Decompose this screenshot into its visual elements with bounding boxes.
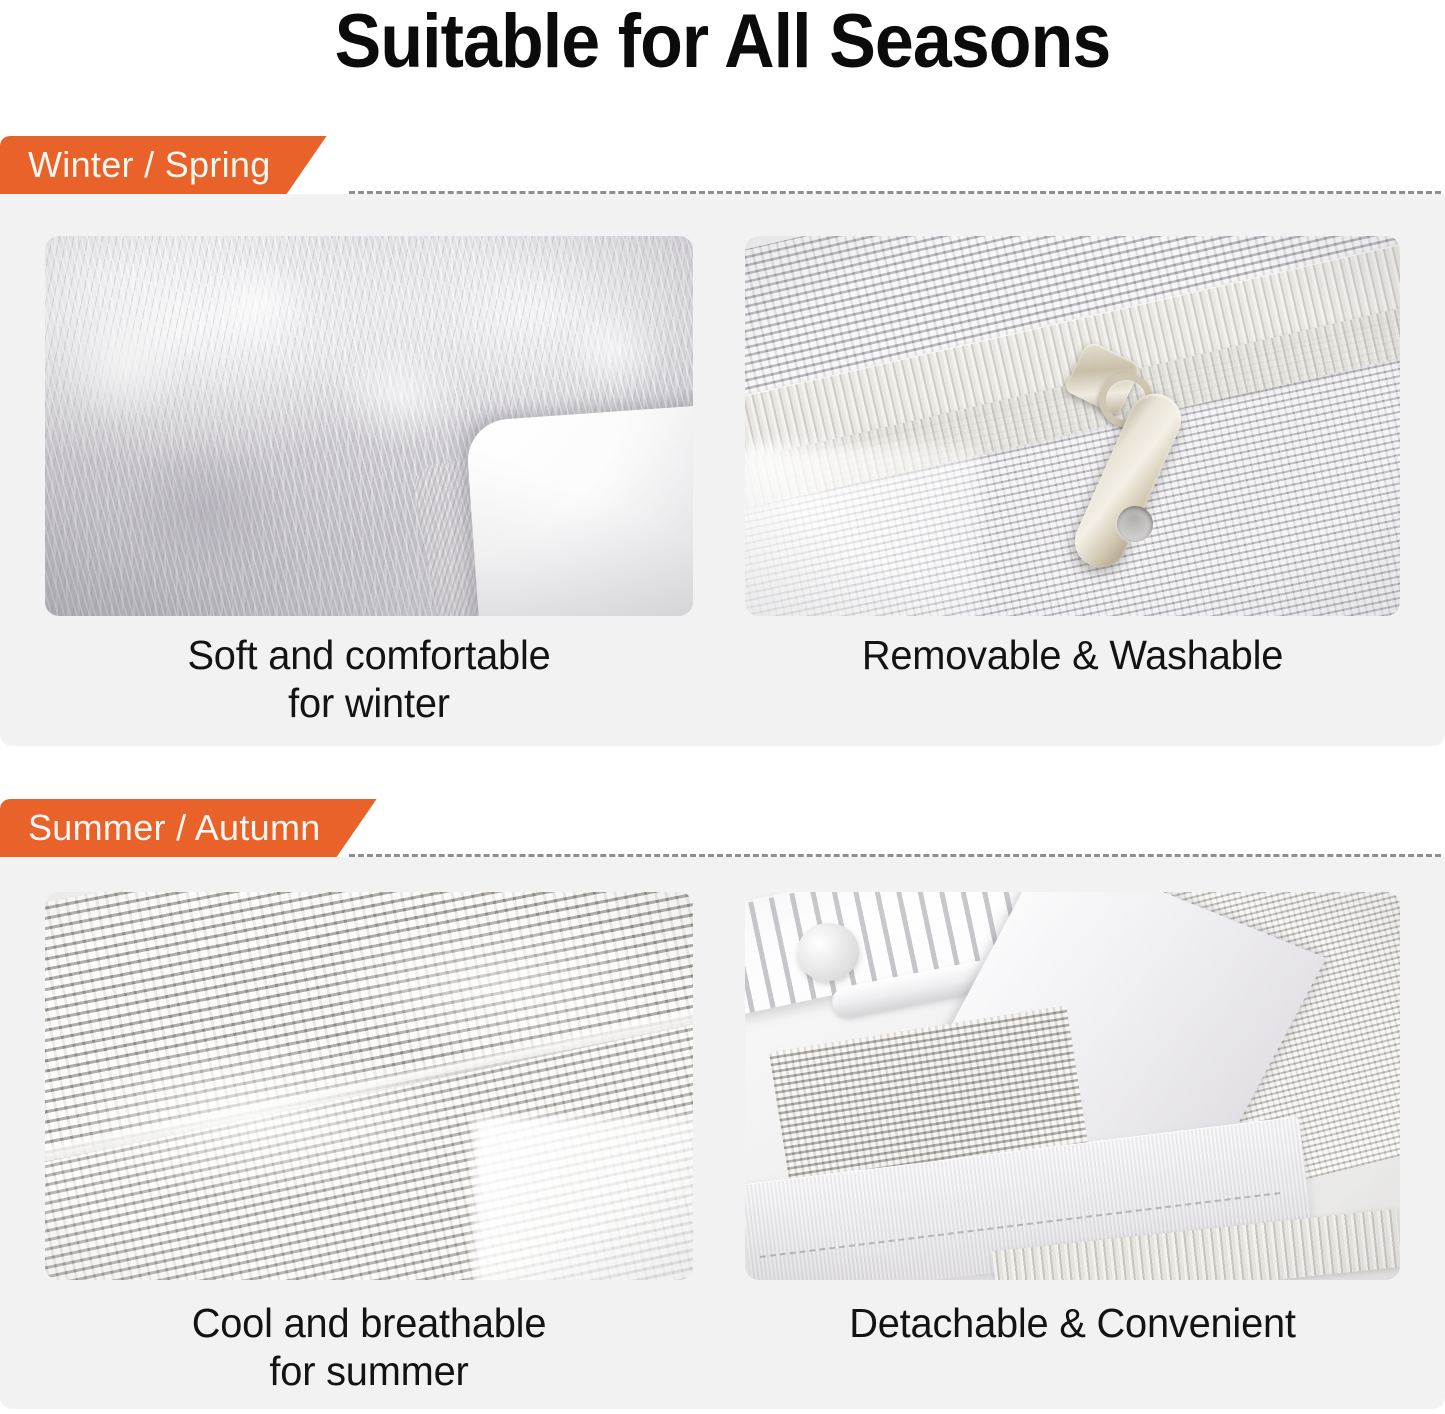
season-section-summer: Summer / Autumn Cool and breathable for	[0, 799, 1445, 1409]
feature-caption: Detachable & Convenient	[755, 1299, 1390, 1347]
season-panel-winter: Soft and comfortable for winter	[0, 194, 1445, 746]
feature-caption: Cool and breathable for summer	[55, 1299, 684, 1395]
season-tab-label: Winter / Spring	[28, 146, 271, 184]
season-tab-summer[interactable]: Summer / Autumn	[0, 799, 377, 857]
season-panel-summer: Cool and breathable for summer	[0, 857, 1445, 1409]
caption-line-1: Cool and breathable	[55, 1299, 684, 1347]
season-tab-winter[interactable]: Winter / Spring	[0, 136, 327, 194]
caption-line-1: Detachable & Convenient	[755, 1299, 1390, 1347]
photo-breathable-mesh-fabric-closeup	[45, 892, 693, 1280]
page-title: Suitable for All Seasons	[58, 0, 1387, 88]
caption-line-1: Removable & Washable	[755, 631, 1390, 679]
feature-card-soft-comfortable: Soft and comfortable for winter	[45, 194, 693, 746]
feature-card-cool-breathable: Cool and breathable for summer	[45, 857, 693, 1409]
season-tab-label: Summer / Autumn	[28, 809, 321, 847]
caption-line-2: for winter	[55, 679, 684, 727]
tab-row-summer: Summer / Autumn	[0, 799, 1445, 857]
velcro-vignette-layer	[745, 892, 1400, 1280]
tab-row-winter: Winter / Spring	[0, 136, 1445, 194]
fur-vignette-layer	[45, 236, 693, 616]
caption-line-1: Soft and comfortable	[55, 631, 684, 679]
photo-gray-faux-fur-fabric-closeup	[45, 236, 693, 616]
feature-caption: Soft and comfortable for winter	[55, 631, 684, 727]
photo-detachable-velcro-strap-closeup	[745, 892, 1400, 1280]
feature-caption: Removable & Washable	[755, 631, 1390, 679]
zipper-vignette-layer	[745, 236, 1400, 616]
feature-card-detachable-convenient: Detachable & Convenient	[745, 857, 1400, 1409]
mesh-vignette-layer	[45, 892, 693, 1280]
caption-line-2: for summer	[55, 1347, 684, 1395]
photo-metal-zipper-on-mesh-closeup	[745, 236, 1400, 616]
season-section-winter: Winter / Spring Soft and comfortable fo	[0, 136, 1445, 746]
feature-card-removable-washable: Removable & Washable	[745, 194, 1400, 746]
